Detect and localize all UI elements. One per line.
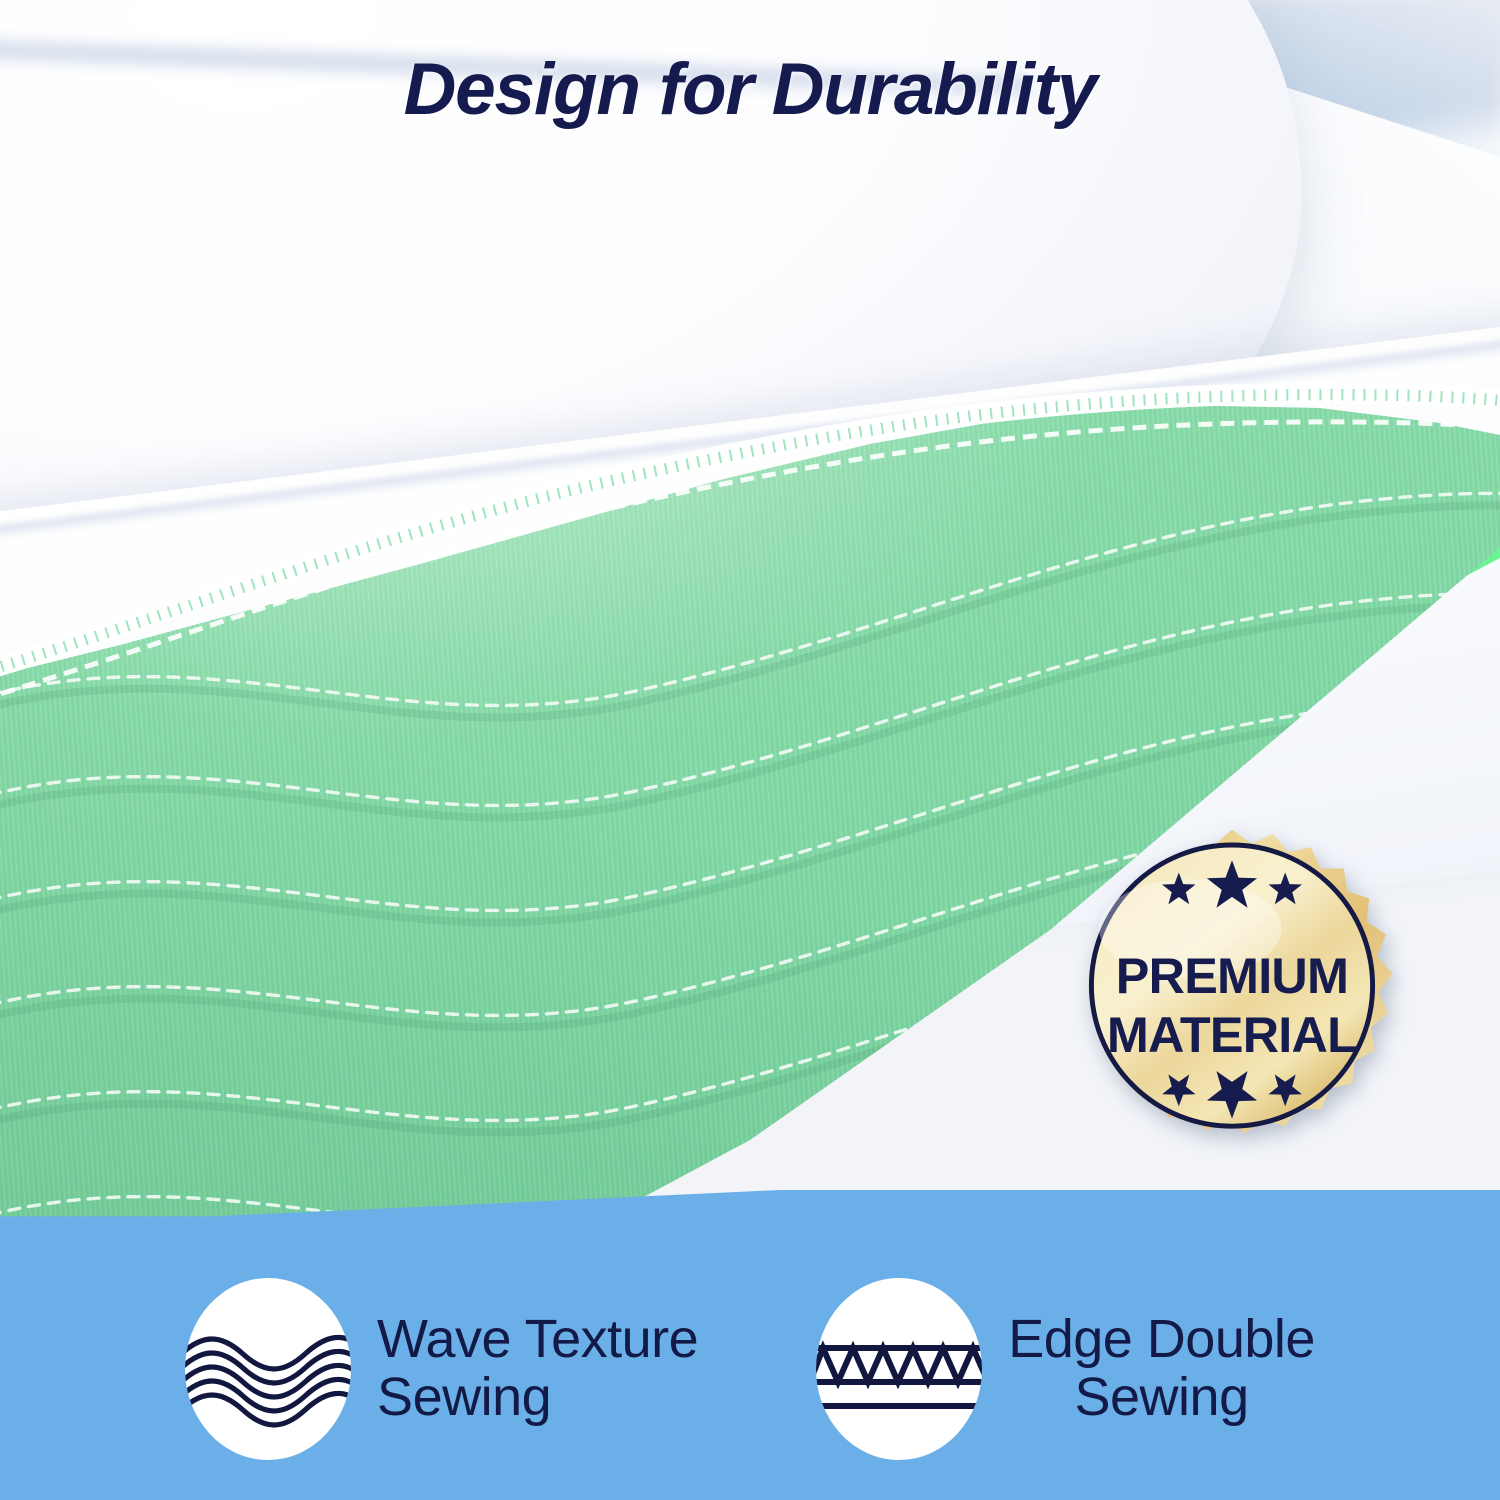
feature-label: Wave Texture Sewing [377, 1311, 698, 1427]
badge-line-1: PREMIUM [1116, 947, 1348, 1004]
wave-lines-icon [185, 1278, 351, 1460]
page-title: Design for Durability [0, 48, 1500, 131]
zigzag-stitch-icon [816, 1278, 982, 1460]
feature-edge-double-sewing: Edge Double Sewing [816, 1278, 1315, 1460]
feature-label: Edge Double Sewing [1008, 1311, 1315, 1427]
feature-wave-texture-sewing: Wave Texture Sewing [185, 1278, 698, 1460]
feature-list: Wave Texture Sewing Edge Double Sewing [0, 1250, 1500, 1500]
badge-line-2: MATERIAL [1107, 1006, 1357, 1063]
product-feature-image: Design for Durability [0, 0, 1500, 1500]
premium-material-badge: PREMIUM MATERIAL [1042, 826, 1422, 1206]
